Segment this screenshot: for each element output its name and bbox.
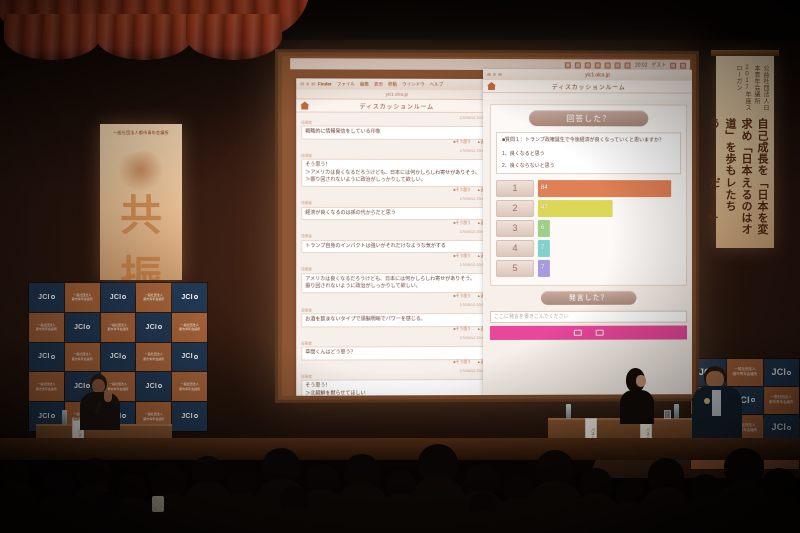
post-body: トランプ自身のインパクトは強いがそれだけなような気がする — [301, 240, 492, 253]
backdrop-caption: 一般社団法人 都市青年会議所 — [72, 293, 93, 302]
home-icon[interactable] — [487, 82, 496, 90]
discussion-post[interactable]: 17/05/12 20:00:52投稿者お酒を飲まないタイプで頭脳明晰でパワーを… — [301, 303, 492, 333]
backdrop-panel: JCI — [172, 283, 207, 312]
agree-button[interactable]: ■そう思う — [453, 188, 471, 193]
poll-bar-track: 6 — [538, 220, 681, 237]
left-poster-banner: 一般社団法人都市青年会議所 共振 — [100, 124, 182, 280]
panelist-woman — [614, 368, 658, 424]
close-icon[interactable] — [487, 73, 490, 77]
poll-option-1: 1、良くなると思う — [502, 150, 675, 157]
app-menu-item-2[interactable]: 編集 — [360, 81, 369, 87]
poll-result-row: 47 — [496, 239, 681, 256]
agree-button[interactable]: ■そう思う — [453, 294, 471, 299]
post-actions[interactable]: ■そう思う▲返信へ — [301, 294, 492, 299]
projection-screen: 20:02 ゲスト Finderファイル編集表示移動ウインドウヘルプ yic1.… — [275, 49, 699, 403]
jci-logo: JCI — [146, 383, 163, 390]
audience-phone-screen — [152, 496, 164, 512]
curtain-scallop — [4, 14, 100, 60]
app-menu-item-6[interactable]: ヘルプ — [430, 81, 444, 87]
poll-choice-label: 4 — [496, 239, 534, 256]
jci-logo: JCI — [181, 353, 198, 360]
post-author: 投稿者 — [301, 201, 492, 206]
maximize-icon[interactable] — [311, 82, 315, 86]
wifi-icon[interactable] — [585, 62, 591, 68]
backdrop-panel: 一般社団法人 都市青年会議所 — [29, 372, 64, 401]
curtain-scallop — [186, 14, 282, 60]
jci-logo: JCI — [146, 324, 163, 331]
jci-logo: JCI — [772, 368, 792, 377]
poll-question-text: ■質問１：トランプ政権誕生で今後経済が良くなっていくと思いますか？ — [502, 137, 675, 145]
app-menu-item-3[interactable]: 表示 — [374, 81, 383, 87]
poll-question-box: ■質問１：トランプ政権誕生で今後経済が良くなっていくと思いますか？ 1、良くなる… — [496, 132, 681, 174]
address-bar-right[interactable]: yic1.olca.jp — [504, 72, 690, 79]
panelist-face — [636, 375, 646, 387]
bluetooth-icon[interactable] — [625, 62, 631, 68]
jci-logo: JCI — [110, 353, 127, 360]
water-bottle — [62, 410, 67, 425]
poll-choice-label: 2 — [496, 200, 534, 217]
banner-slogan-line2: 「日本を変えるのはオレたちだ!!」 — [720, 177, 770, 239]
backdrop-panel: JCI — [29, 283, 64, 312]
backdrop-caption: 一般社団法人 都市青年会議所 — [72, 352, 93, 361]
banner-org-line: 公益社団法人日本青年会議所 2017年度スローガン — [734, 65, 770, 117]
backdrop-panel: JCI — [764, 359, 799, 386]
app-menu-item-5[interactable]: ウインドウ — [402, 81, 425, 87]
agree-button[interactable]: ■そう思う — [453, 221, 471, 226]
browser-window-poll[interactable]: yic1.olca.jp ディスカッションルーム 回答した？ ■質問１：トランプ… — [483, 69, 692, 396]
app-header-left: ディスカッションルーム — [296, 99, 497, 113]
search-icon[interactable] — [670, 62, 676, 68]
window-titlebar-right[interactable]: yic1.olca.jp — [483, 69, 692, 81]
jci-logo: JCI — [38, 413, 55, 420]
address-bar-left[interactable]: yic1.olca.jp — [296, 89, 497, 100]
backdrop-panel: 一般社団法人 都市青年会議所 — [29, 313, 64, 342]
drinking-glass — [664, 410, 671, 419]
post-author: 投稿者 — [301, 267, 492, 272]
browser-window-discussion-feed[interactable]: Finderファイル編集表示移動ウインドウヘルプ yic1.olca.jp ディ… — [296, 78, 497, 395]
say-button[interactable]: 発言した？ — [541, 290, 637, 304]
poll-bar-value: 7 — [538, 239, 549, 256]
speaker-torso — [80, 392, 120, 430]
jci-logo: JCI — [181, 413, 198, 420]
agree-button[interactable]: ■そう思う — [453, 140, 471, 145]
battery-icon[interactable] — [575, 62, 581, 68]
close-icon[interactable] — [300, 82, 304, 86]
poll-bar-value: 47 — [538, 200, 613, 217]
backdrop-panel: 一般社団法人 都市青年会議所 — [764, 387, 799, 414]
post-body: 経済が良くなるのは孫の代からだと思う — [301, 207, 492, 220]
water-bottle — [566, 404, 571, 419]
jci-logo: JCI — [38, 353, 55, 360]
poll-bar-track: 84 — [538, 180, 681, 197]
backdrop-panel: JCI — [136, 372, 171, 401]
app-menu-bar[interactable]: Finderファイル編集表示移動ウインドウヘルプ — [318, 81, 443, 87]
poll-bar-value: 6 — [538, 220, 549, 237]
left-poster-kanji: 共振 — [100, 182, 182, 280]
backdrop-caption: 一般社団法人 都市青年会議所 — [769, 395, 794, 406]
speaker-raised-hand — [104, 390, 112, 402]
backdrop-caption: 一般社団法人 都市青年会議所 — [179, 382, 200, 391]
post-actions[interactable]: ■そう思う▲返信へ — [301, 360, 492, 366]
banner-slogan-line1: 自己成長を求め「日本道」を歩もう — [720, 118, 770, 176]
backdrop-caption: 一般社団法人 都市青年会議所 — [143, 412, 164, 421]
ime-icon[interactable] — [605, 62, 611, 68]
poll-bar-value: 84 — [538, 180, 672, 197]
menubar-clock[interactable]: 20:02 — [635, 62, 647, 68]
poll-result-row: 36 — [496, 220, 681, 237]
app-menu-item-0[interactable]: Finder — [318, 81, 332, 87]
display-icon[interactable] — [595, 62, 601, 68]
right-slogan-banner: 「日本を変えるのはオレたちだ!!」 自己成長を求め「日本道」を歩もう 公益社団法… — [716, 56, 774, 248]
say-input[interactable]: ここに発言を書きこんでください — [490, 310, 687, 322]
backdrop-panel: 一般社団法人 都市青年会議所 — [172, 372, 207, 401]
answered-button[interactable]: 回答した？ — [529, 110, 648, 126]
post-actions[interactable]: ■そう思う▲返信へ — [301, 221, 492, 226]
discussion-post[interactable]: 17/05/12 20:01:32投稿者そう思う！ ＞アメリカは良くなるだろうけ… — [301, 149, 492, 193]
backdrop-caption: 一般社団法人 都市青年会議所 — [179, 323, 200, 332]
poll-choice-label: 3 — [496, 220, 534, 237]
backdrop-panel: JCI — [136, 313, 171, 342]
curtain-scallop — [96, 14, 192, 60]
poll-bar-value: 7 — [538, 259, 549, 276]
app-menu-item-4[interactable]: 移動 — [388, 81, 397, 87]
audience-silhouettes — [0, 430, 800, 533]
discussion-post[interactable]: 17/05/12 20:01:09投稿者トランプ自身のインパクトは強いがそれだけ… — [301, 230, 492, 259]
discussion-post-list[interactable]: 17/05/12 20:01:49投稿者戦略的に情報発信をしている印象■そう思う… — [296, 112, 497, 395]
traffic-lights[interactable] — [487, 73, 501, 77]
say-section: 発言した？ ここに発言を書きこんでください — [490, 290, 687, 339]
home-icon[interactable] — [300, 101, 309, 109]
poll-option-2: 2、良くならないと思う — [502, 162, 675, 169]
agree-button[interactable]: ■そう思う — [453, 254, 471, 259]
water-bottle — [674, 404, 679, 419]
post-actions[interactable]: ■そう思う▲返信へ — [301, 327, 492, 332]
poll-bar-track: 7 — [538, 239, 681, 256]
jci-logo: JCI — [110, 294, 127, 301]
maximize-icon[interactable] — [498, 73, 501, 77]
post-body: 草間くんはどう思う？ — [301, 346, 492, 360]
jci-logo: JCI — [38, 294, 55, 301]
post-body: アメリカは良くなるだろうけども、日本には何かしらしわ寄せがありそう。 振り回され… — [301, 273, 492, 294]
projection-screen-surface: 20:02 ゲスト Finderファイル編集表示移動ウインドウヘルプ yic1.… — [282, 56, 692, 396]
speaker-presenter — [76, 374, 124, 430]
backdrop-panel: JCI — [172, 343, 207, 372]
app-header-title-right: ディスカッションルーム — [552, 82, 626, 91]
discussion-post[interactable]: 17/05/12 20:00:37投稿者草間くんはどう思う？■そう思う▲返信へ — [301, 336, 492, 366]
post-body: そう思う！ ＞アメリカは良くなるだろうけども、日本には何かしらしわ寄せがありそう… — [301, 159, 492, 187]
poll-card: 回答した？ ■質問１：トランプ政権誕生で今後経済が良くなっていくと思いますか？ … — [490, 104, 687, 285]
backdrop-panel: 一般社団法人 都市青年会議所 — [65, 283, 100, 312]
post-author: 投稿者 — [301, 234, 492, 239]
poll-result-row: 184 — [496, 180, 681, 197]
speaker-face — [92, 379, 105, 393]
backdrop-panel: 一般社団法人 都市青年会議所 — [101, 313, 136, 342]
backdrop-panel: JCI — [29, 343, 64, 372]
backdrop-panel: 一般社団法人 都市青年会議所 — [172, 313, 207, 342]
poll-choice-label: 1 — [496, 180, 534, 197]
traffic-lights[interactable] — [300, 82, 315, 86]
poll-panel: 回答した？ ■質問１：トランプ政権誕生で今後経済が良くなっていくと思いますか？ … — [483, 99, 692, 396]
window-titlebar-left[interactable]: Finderファイル編集表示移動ウインドウヘルプ — [296, 78, 497, 90]
backdrop-panel: 一般社団法人 都市青年会議所 — [136, 343, 171, 372]
panelist-badge — [704, 398, 710, 404]
agree-button[interactable]: ■そう思う — [453, 327, 471, 332]
backdrop-panel: JCI — [65, 313, 100, 342]
media-toolbar[interactable] — [490, 325, 687, 339]
poll-bar-track: 47 — [538, 200, 681, 217]
panelist-torso — [620, 390, 654, 424]
shield-icon[interactable] — [565, 62, 571, 68]
jci-logo: JCI — [74, 324, 91, 331]
poll-bar-track: 7 — [538, 259, 681, 276]
poll-choice-label: 5 — [496, 259, 534, 276]
app-menu-item-1[interactable]: ファイル — [337, 81, 355, 87]
poll-results-bar-chart: 184247364757 — [496, 180, 681, 277]
discussion-post[interactable]: 17/05/12 20:01:00投稿者アメリカは良くなるだろうけども、日本には… — [301, 263, 492, 300]
discussion-post[interactable]: 17/05/12 20:01:18投稿者経済が良くなるのは孫の代からだと思う■そ… — [301, 196, 492, 225]
control-center-icon[interactable] — [680, 62, 686, 68]
backdrop-panel: JCI — [101, 343, 136, 372]
input-source-icon[interactable] — [615, 62, 621, 68]
backdrop-panel: 一般社団法人 都市青年会議所 — [136, 283, 171, 312]
discussion-post[interactable]: 17/05/12 20:00:21投稿者そう思う！ ＞北朝鮮を黙らせてほしい■そ… — [301, 369, 492, 396]
post-body: 戦略的に情報発信をしている印象 — [301, 126, 492, 140]
backdrop-caption: 一般社団法人 都市青年会議所 — [143, 293, 164, 302]
post-author: 投稿者 — [301, 154, 492, 159]
discussion-post[interactable]: 17/05/12 20:01:49投稿者戦略的に情報発信をしている印象■そう思う… — [301, 116, 492, 146]
post-body: そう思う！ ＞北朝鮮を黙らせてほしい — [301, 379, 492, 395]
post-body: お酒を飲まないタイプで頭脳明晰でパワーを感じる。 — [301, 313, 492, 327]
minimize-icon[interactable] — [492, 73, 495, 77]
app-header-title-left: ディスカッションルーム — [360, 101, 435, 110]
agree-button[interactable]: ■そう思う — [453, 360, 471, 365]
menubar-user[interactable]: ゲスト — [651, 62, 666, 69]
conference-hall-photo: 一般社団法人都市青年会議所 共振 「日本を変えるのはオレたちだ!!」 自己成長を… — [0, 0, 800, 533]
backdrop-panel: JCI — [101, 283, 136, 312]
post-actions[interactable]: ■そう思う▲返信へ — [301, 254, 492, 259]
backdrop-caption: 一般社団法人 都市青年会議所 — [36, 323, 57, 332]
post-actions[interactable]: ■そう思う▲返信へ — [301, 187, 492, 192]
camera-icon[interactable] — [574, 329, 582, 335]
backdrop-caption: 一般社団法人 都市青年会議所 — [107, 323, 128, 332]
left-poster-top-text: 一般社団法人都市青年会議所 — [106, 130, 176, 136]
minimize-icon[interactable] — [306, 82, 310, 86]
backdrop-panel: 一般社団法人 都市青年会議所 — [65, 343, 100, 372]
app-header-right: ディスカッションルーム — [483, 80, 692, 94]
backdrop-caption: 一般社団法人 都市青年会議所 — [143, 352, 164, 361]
keyboard-icon[interactable] — [596, 329, 604, 335]
post-actions[interactable]: ■そう思う▲返信へ — [301, 140, 492, 145]
panelist-shirt — [712, 390, 721, 416]
say-input-placeholder: ここに発言を書きこんでください — [494, 313, 569, 320]
backdrop-panel: JCI — [172, 402, 207, 431]
backdrop-caption: 一般社団法人 都市青年会議所 — [36, 382, 57, 391]
poll-result-row: 247 — [496, 200, 681, 217]
jci-logo: JCI — [181, 294, 198, 301]
poll-result-row: 57 — [496, 259, 681, 276]
